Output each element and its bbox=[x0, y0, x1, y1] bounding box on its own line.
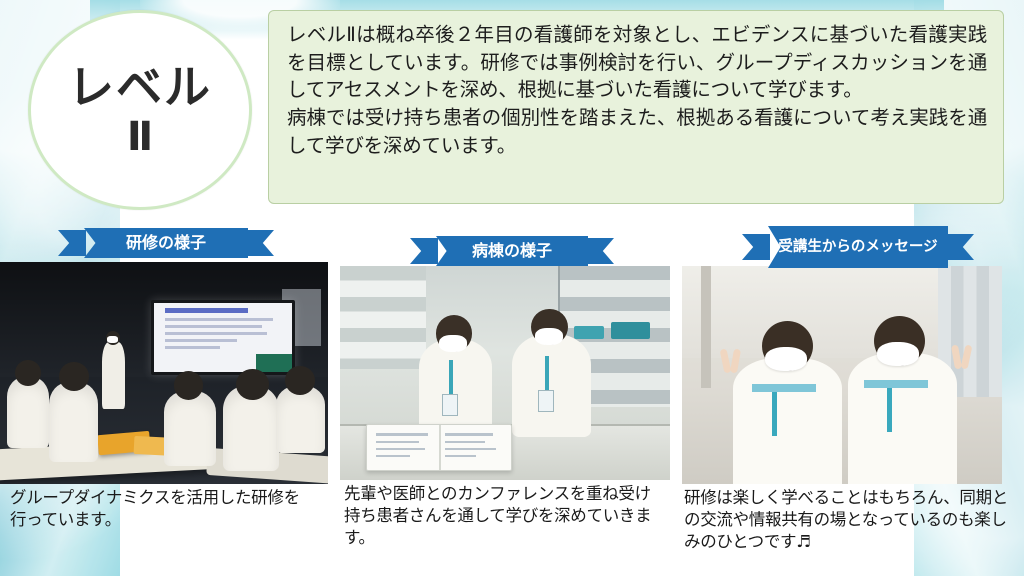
message-nurse-right-mask bbox=[877, 342, 919, 366]
ward-shelf-left bbox=[340, 266, 426, 369]
textbook-text-line bbox=[376, 455, 410, 457]
instructor-mask bbox=[107, 336, 118, 343]
level-badge: レベル Ⅱ bbox=[28, 10, 252, 210]
photo-door-frame bbox=[701, 266, 711, 388]
ward-nurse-right-mask bbox=[535, 328, 563, 345]
ward-nurse-left-mask bbox=[439, 335, 467, 352]
photo-projection-screen bbox=[151, 300, 295, 375]
slide-text-line bbox=[165, 339, 237, 342]
seated-nurse-head bbox=[15, 360, 41, 387]
message-nurse-left-body bbox=[733, 358, 842, 484]
seated-nurse bbox=[276, 386, 325, 453]
textbook-text-line bbox=[376, 433, 428, 435]
message-nurse-right-collar bbox=[864, 380, 928, 388]
ward-nurse-right bbox=[512, 334, 591, 437]
message-nurse-right-body bbox=[848, 353, 957, 484]
seated-nurse-head bbox=[59, 362, 89, 391]
ward-nurse-left-idcard bbox=[442, 394, 458, 416]
finger bbox=[960, 345, 972, 370]
description-paragraph-1: レベルⅡは概ね卒後２年目の看護師を対象とし、エビデンスに基づいた看護実践を目標と… bbox=[287, 21, 987, 104]
students-message-photo bbox=[682, 266, 1002, 484]
slide-green-block bbox=[256, 354, 292, 372]
ward-conference-photo bbox=[340, 266, 670, 480]
seated-nurse bbox=[164, 391, 216, 466]
ribbon-training: 研修の様子 bbox=[84, 228, 248, 258]
seated-nurse-head bbox=[285, 366, 315, 395]
textbook-text-line bbox=[445, 448, 497, 450]
description-panel: レベルⅡは概ね卒後２年目の看護師を対象とし、エビデンスに基づいた看護実践を目標と… bbox=[268, 10, 1004, 204]
seated-nurse-head bbox=[174, 371, 204, 400]
message-nurse-left-peace-hand bbox=[720, 349, 746, 379]
caption-message: 研修は楽しく学べることはもちろん、同期との交流や情報共有の場となっているのも楽し… bbox=[682, 484, 1018, 553]
ribbon-ward-label: 病棟の様子 bbox=[436, 236, 588, 266]
slide-text-line bbox=[165, 332, 267, 335]
ward-teal-container-2 bbox=[574, 326, 604, 339]
message-nurse-left-mask bbox=[765, 347, 807, 371]
level-badge-word: レベル bbox=[68, 63, 212, 111]
level-badge-number: Ⅱ bbox=[127, 117, 153, 157]
textbook-text-line bbox=[445, 433, 494, 435]
ribbon-ward: 病棟の様子 bbox=[436, 236, 588, 266]
message-nurse-right-lanyard bbox=[887, 388, 892, 432]
ward-nurse-left bbox=[419, 339, 492, 433]
finger bbox=[730, 349, 741, 374]
slide-root: レベル Ⅱ レベルⅡは概ね卒後２年目の看護師を対象とし、エビデンスに基づいた看護… bbox=[0, 0, 1024, 576]
textbook-text-line bbox=[376, 441, 419, 443]
ward-nurse-right-idcard bbox=[538, 390, 554, 412]
textbook-text-line bbox=[445, 455, 477, 457]
seated-nurse-head bbox=[236, 369, 269, 400]
textbook-spine bbox=[439, 425, 441, 470]
message-nurse-right-peace-hand bbox=[951, 345, 977, 375]
card-ward: 先輩や医師とのカンファレンスを重ね受け持ち患者さんを通して学びを深めていきます。 bbox=[340, 266, 670, 549]
card-message: 研修は楽しく学べることはもちろん、同期との交流や情報共有の場となっているのも楽し… bbox=[682, 266, 1024, 553]
textbook-text-line bbox=[376, 448, 425, 450]
slide-title-bar bbox=[165, 308, 248, 313]
card-training: グループダイナミクスを活用した研修を行っています。 bbox=[0, 262, 328, 531]
seated-nurse bbox=[7, 377, 50, 448]
standing-instructor bbox=[102, 342, 125, 409]
caption-training: グループダイナミクスを活用した研修を行っています。 bbox=[0, 484, 306, 531]
ward-teal-container bbox=[611, 322, 651, 339]
textbook-text-line bbox=[445, 441, 485, 443]
description-paragraph-2: 病棟では受け持ち患者の個別性を踏まえた、根拠ある看護について考え実践を通して学び… bbox=[287, 104, 987, 159]
caption-ward: 先輩や医師とのカンファレンスを重ね受け持ち患者さんを通して学びを深めていきます。 bbox=[340, 480, 664, 549]
open-textbook bbox=[366, 424, 511, 471]
training-classroom-photo bbox=[0, 262, 328, 484]
ribbon-message-label: 受講生からのメッセージ bbox=[768, 226, 948, 268]
slide-text-line bbox=[165, 346, 220, 349]
seated-nurse bbox=[49, 382, 98, 462]
ribbon-training-label: 研修の様子 bbox=[84, 228, 248, 258]
slide-text-line bbox=[165, 325, 262, 328]
slide-text-line bbox=[165, 318, 273, 321]
ribbon-message: 受講生からのメッセージ bbox=[768, 226, 948, 268]
message-nurse-left-lanyard bbox=[772, 392, 777, 436]
message-nurse-left-collar bbox=[752, 384, 816, 392]
